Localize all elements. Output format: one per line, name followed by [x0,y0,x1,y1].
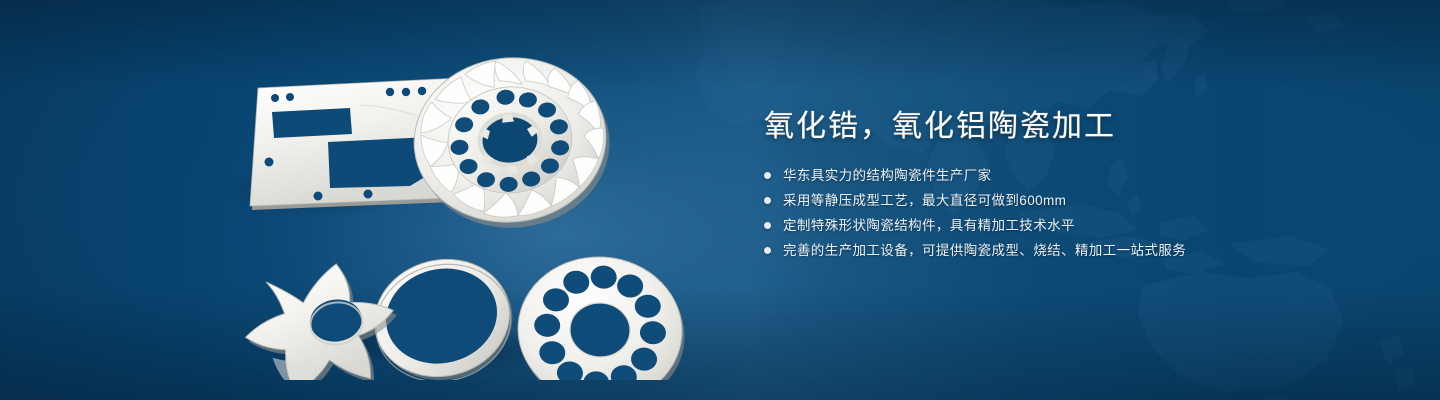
ceramic-products-image [210,30,750,380]
feature-item: 采用等静压成型工艺，最大直径可做到600mm [764,193,1364,209]
banner-headline: 氧化锆，氧化铝陶瓷加工 [764,108,1364,146]
feature-text: 定制特殊形状陶瓷结构件，具有精加工技术水平 [783,218,1075,234]
bullet-dot-icon [764,172,771,179]
bullet-dot-icon [764,247,771,254]
hero-banner: 氧化锆，氧化铝陶瓷加工 华东具实力的结构陶瓷件生产厂家 采用等静压成型工艺，最大… [0,0,1440,400]
feature-item: 华东具实力的结构陶瓷件生产厂家 [764,168,1364,184]
ceramic-perforated-disc-shape [513,251,690,380]
bullet-dot-icon [764,197,771,204]
bullet-dot-icon [764,222,771,229]
feature-item: 完善的生产加工设备，可提供陶瓷成型、烧结、精加工一站式服务 [764,243,1364,259]
banner-feature-list: 华东具实力的结构陶瓷件生产厂家 采用等静压成型工艺，最大直径可做到600mm 定… [764,168,1364,259]
banner-copy: 氧化锆，氧化铝陶瓷加工 华东具实力的结构陶瓷件生产厂家 采用等静压成型工艺，最大… [764,108,1364,268]
feature-text: 完善的生产加工设备，可提供陶瓷成型、烧结、精加工一站式服务 [783,243,1186,259]
ceramic-impeller-shape [406,48,618,237]
feature-text: 采用等静压成型工艺，最大直径可做到600mm [783,193,1066,209]
feature-item: 定制特殊形状陶瓷结构件，具有精加工技术水平 [764,218,1364,234]
feature-text: 华东具实力的结构陶瓷件生产厂家 [783,168,992,184]
